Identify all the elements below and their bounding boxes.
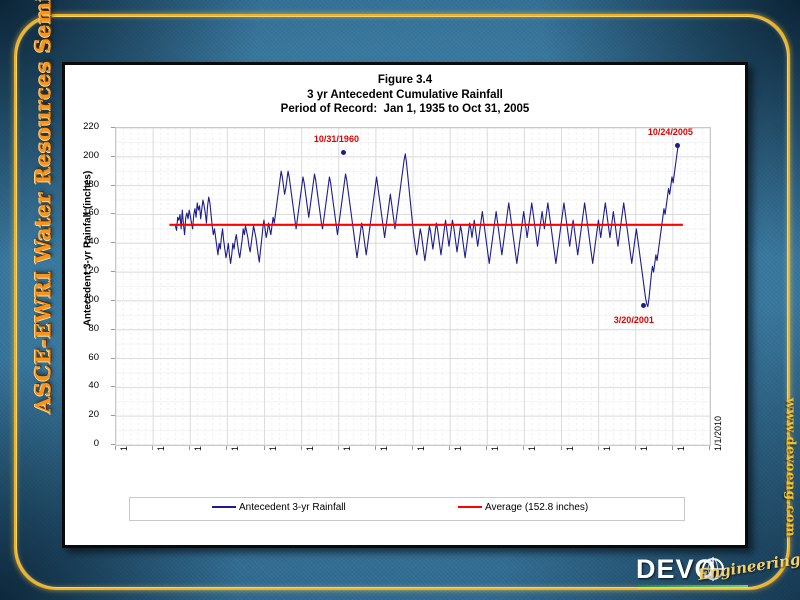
logo-rule-gold	[638, 588, 758, 589]
chart-annotation-label: 10/24/2005	[648, 127, 693, 137]
x-tick-label: 1/1/2010	[713, 416, 723, 451]
y-tick-label: 100	[59, 294, 99, 305]
legend-swatch-average	[458, 506, 482, 508]
y-tick-label: 20	[59, 409, 99, 420]
chart-annotation-label: 10/31/1960	[314, 134, 359, 144]
plot-wrapper: Antecedent 3-yr Rainfall (inches) 020406…	[65, 65, 751, 551]
y-tick-label: 40	[59, 380, 99, 391]
logo-rule-green	[638, 585, 748, 587]
slide: ASCE-EWRI Water Resources Seminar www.de…	[0, 0, 800, 600]
y-tick-label: 0	[59, 438, 99, 449]
legend-label-series: Antecedent 3-yr Rainfall	[239, 502, 346, 513]
y-tick-label: 120	[59, 265, 99, 276]
legend-item-series: Antecedent 3-yr Rainfall	[212, 502, 346, 513]
y-tick-label: 60	[59, 352, 99, 363]
chart-panel: Figure 3.4 3 yr Antecedent Cumulative Ra…	[62, 62, 748, 548]
legend-item-average: Average (152.8 inches)	[458, 502, 588, 513]
legend-label-average: Average (152.8 inches)	[485, 502, 588, 513]
series-canvas	[116, 128, 710, 445]
seminar-banner-left: ASCE-EWRI Water Resources Seminar	[31, 84, 56, 414]
website-banner-right: www.devoeng.com	[783, 378, 798, 558]
plot-area	[115, 127, 711, 446]
devo-logo: DEVO Engineering	[636, 552, 786, 596]
y-tick-label: 140	[59, 236, 99, 247]
y-tick-label: 160	[59, 207, 99, 218]
legend-swatch-series	[212, 506, 236, 508]
y-tick-label: 220	[59, 121, 99, 132]
chart-annotation-label: 3/20/2001	[614, 315, 654, 325]
chart-legend: Antecedent 3-yr Rainfall Average (152.8 …	[129, 497, 685, 521]
y-tick-label: 200	[59, 150, 99, 161]
y-tick-label: 180	[59, 179, 99, 190]
y-tick-label: 80	[59, 323, 99, 334]
